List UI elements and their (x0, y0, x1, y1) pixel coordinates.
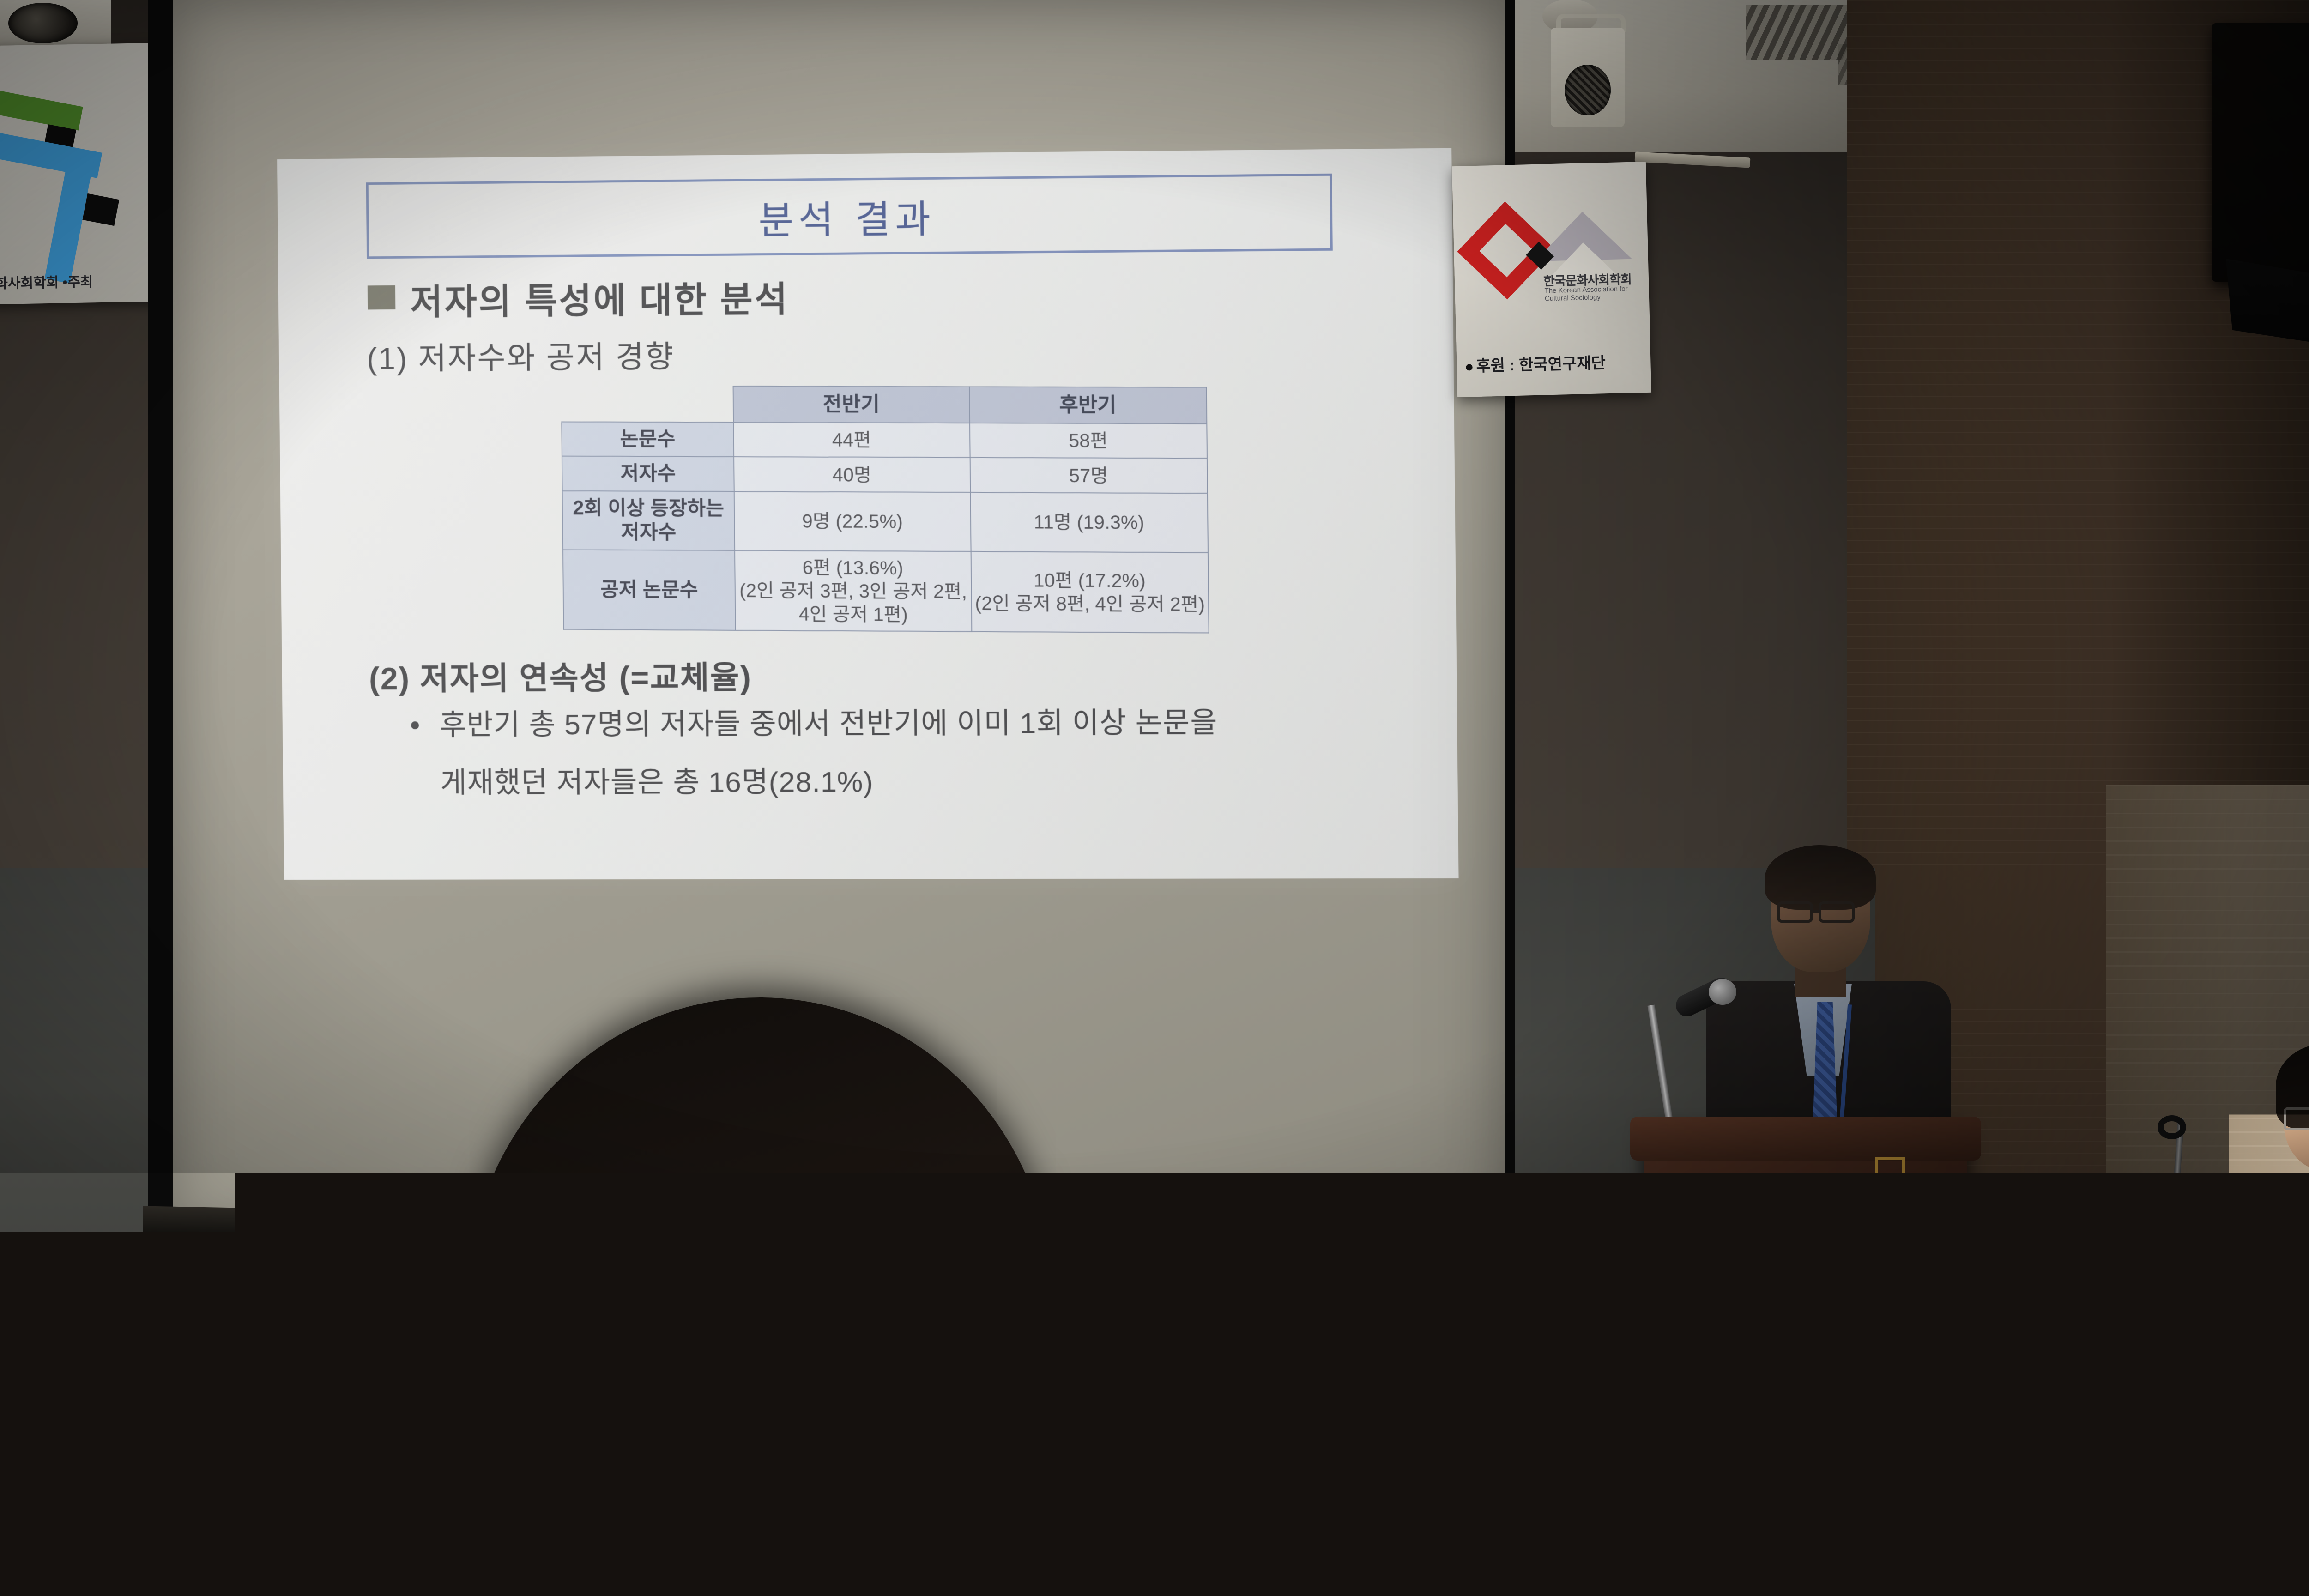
slide-subsection-1: (1) 저자수와 공저 경향 (367, 332, 675, 379)
seated-attendee-person (2221, 1044, 2309, 1339)
sponsor-label: 후원 : 한국연구재단 (1476, 354, 1606, 375)
conference-banner-right: 한국문화사회학회 The Korean Association for Cult… (1452, 162, 1651, 397)
square-bullet-icon (368, 285, 396, 310)
foreground-audience-head-silhouette (466, 997, 1053, 1596)
presenter-glasses-right-icon (1819, 901, 1855, 923)
cell-coauthored-second: 10편 (17.2%) (2인 공저 8편, 4인 공저 2편) (971, 551, 1209, 633)
laptop-screen (1998, 1219, 2163, 1332)
slide-title: 분석 결과 (758, 188, 936, 245)
bottle-body (173, 1351, 213, 1450)
podium-logo-square-icon (1875, 1157, 1905, 1193)
table-header-row: 전반기 후반기 (562, 386, 1207, 424)
ac-fan-icon (8, 3, 78, 43)
slide-section-heading: 저자의 특성에 대한 분석 (410, 271, 789, 325)
speaker-mount-bracket-icon (2226, 259, 2309, 342)
author-statistics-table: 전반기 후반기 논문수 44편 58편 저자수 40명 57명 2회 이상 등장… (561, 385, 1209, 633)
table-row: 2회 이상 등장하는 저자수 9명 (22.5%) 11명 (19.3%) (562, 491, 1208, 553)
presenter-hair (1765, 845, 1876, 910)
water-drop-icon (1449, 1347, 1467, 1366)
label-bars-icon (1469, 1350, 1481, 1358)
table-corner-cell (562, 386, 734, 422)
label-text-line (1451, 1369, 1480, 1372)
row-label-repeat-authors: 2회 이상 등장하는 저자수 (562, 491, 735, 550)
cell-papers-second: 58편 (970, 423, 1207, 459)
attendee-glasses-left-icon (2284, 1107, 2309, 1130)
table-microphone-icon (115, 1455, 166, 1505)
presenter-glasses-bridge-icon (1813, 910, 1819, 913)
table-row: 저자수 40명 57명 (562, 456, 1208, 493)
water-bottle (173, 1312, 213, 1450)
speaker-nameplate: 연세대학교 강 정 한 (1225, 1388, 1409, 1455)
label-bars-icon (196, 1369, 209, 1376)
podium-vent-slots-icon (1792, 1302, 1847, 1358)
bullet-dot-icon (411, 721, 419, 729)
podium-microphone-capsule-icon (1709, 979, 1736, 1005)
row-label-authors: 저자수 (562, 456, 734, 491)
association-name-english: The Korean Association for Cultural Soci… (1544, 284, 1644, 303)
sponsor-bullet-icon (1466, 364, 1472, 370)
row-label-papers: 논문수 (562, 422, 734, 457)
cell-repeat-first: 9명 (22.5%) (734, 491, 971, 551)
table-col-header-second-half: 후반기 (969, 387, 1207, 423)
spotlight-lens-icon (1565, 65, 1611, 115)
table-row: 공저 논문수 6편 (13.6%) (2인 공저 3편, 3인 공저 2편, 4… (563, 550, 1209, 633)
podium-logo-text: CAU (1750, 1164, 1875, 1228)
bottle-label (1446, 1339, 1484, 1377)
water-bottle (1445, 1293, 1485, 1432)
nameplate-name: 강 정 한 (1261, 1415, 1374, 1452)
cell-authors-first: 40명 (734, 457, 970, 492)
label-text-line (179, 1387, 207, 1391)
row-label-coauthored: 공저 논문수 (563, 550, 736, 630)
table-row: 논문수 44편 58편 (562, 422, 1207, 459)
stage-spotlight (1529, 9, 1644, 148)
presenter-glasses-left-icon (1777, 901, 1813, 923)
photo-scene: 국문화사회학회 •주최 분석 결과 저자의 특성에 대한 분석 (1) 저자수와… (0, 0, 2309, 1596)
water-drop-icon (176, 1366, 195, 1384)
side-table-papers (2188, 1312, 2309, 1336)
gooseneck-microphone-head-icon (2158, 1115, 2186, 1139)
slide-title-box: 분석 결과 (366, 174, 1333, 259)
cell-repeat-second: 11명 (19.3%) (970, 492, 1208, 552)
bottle-label (174, 1358, 212, 1396)
bottle-body (1445, 1332, 1485, 1432)
presentation-slide: 분석 결과 저자의 특성에 대한 분석 (1) 저자수와 공저 경향 전반기 후… (277, 148, 1459, 880)
slide-bullet-line-2: 게재했던 저자들은 총 16명(28.1%) (440, 758, 874, 801)
banner-left-green-bar-1-icon (0, 81, 83, 130)
banner-sponsor-text: 후원 : 한국연구재단 (1466, 350, 1606, 376)
cell-papers-first: 44편 (734, 423, 970, 458)
wall-speaker (2212, 23, 2309, 282)
cell-authors-second: 57명 (970, 458, 1207, 493)
slide-subsection-2: (2) 저자의 연속성 (=교체율) (369, 652, 752, 699)
cell-coauthored-first: 6편 (13.6%) (2인 공저 3편, 3인 공저 2편, 4인 공저 1편… (735, 550, 972, 632)
slide-bullet-line-1: 후반기 총 57명의 저자들 중에서 전반기에 이미 1회 이상 논문을 (440, 699, 1218, 743)
banner-left-black-square-2-icon (82, 193, 119, 226)
podium-top-surface (1630, 1117, 1981, 1161)
nameplate-organization: 연세대학교 (1281, 1391, 1354, 1415)
table-col-header-first-half: 전반기 (733, 386, 970, 423)
